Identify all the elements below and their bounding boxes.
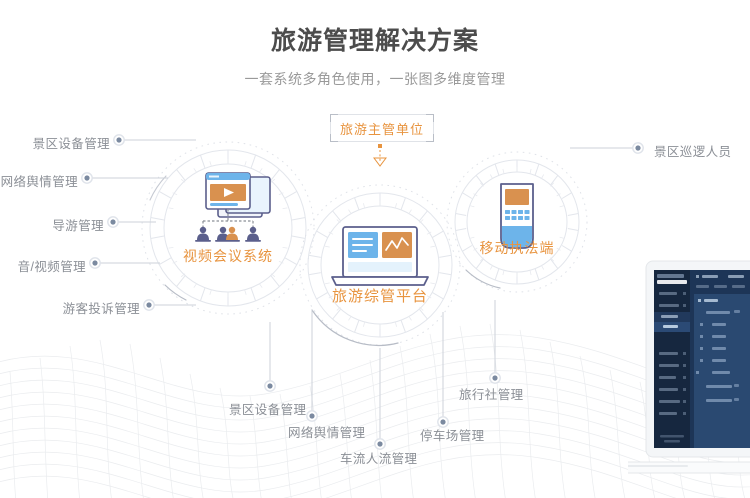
node-caption-mobile-enforcement: 移动执法端 [462,238,572,258]
bottom-item-label-2[interactable]: 网络舆情管理 [288,422,365,441]
laptop-dashboard-icon [332,227,428,285]
authority-label: 旅游主管单位 [340,119,424,138]
left-item-label-1[interactable]: 景区设备管理 [0,133,110,152]
bottom-item-label-1[interactable]: 景区设备管理 [229,399,306,418]
left-item-label-5[interactable]: 游客投诉管理 [0,298,140,317]
corner-bracket-tr [426,114,434,122]
node-caption-tourism-platform: 旅游综管平台 [318,285,442,306]
right-dots [633,143,643,153]
authority-arrow-icon [374,144,386,166]
corner-bracket-tl [330,114,338,122]
bottom-item-label-4[interactable]: 停车场管理 [420,425,485,444]
corner-bracket-bl [330,134,338,142]
right-item-label-1[interactable]: 景区巡逻人员 [654,141,731,160]
bottom-item-label-3[interactable]: 车流人流管理 [340,448,417,467]
admin-dashboard-laptop-mockup [628,255,750,498]
authority-box[interactable]: 旅游主管单位 [330,114,434,142]
left-item-label-2[interactable]: 网络舆情管理 [0,171,78,190]
ring-video-conference [142,142,314,314]
left-item-label-3[interactable]: 导游管理 [0,215,104,234]
video-window-icon [195,173,270,242]
corner-bracket-br [426,134,434,142]
infographic-canvas: 旅游管理解决方案 一套系统多角色使用，一张图多维度管理 [0,0,750,498]
bottom-item-label-5[interactable]: 旅行社管理 [459,384,524,403]
bottom-connectors [270,300,495,439]
left-item-label-4[interactable]: 音/视频管理 [0,256,86,275]
node-caption-video-conference: 视频会议系统 [168,246,288,266]
